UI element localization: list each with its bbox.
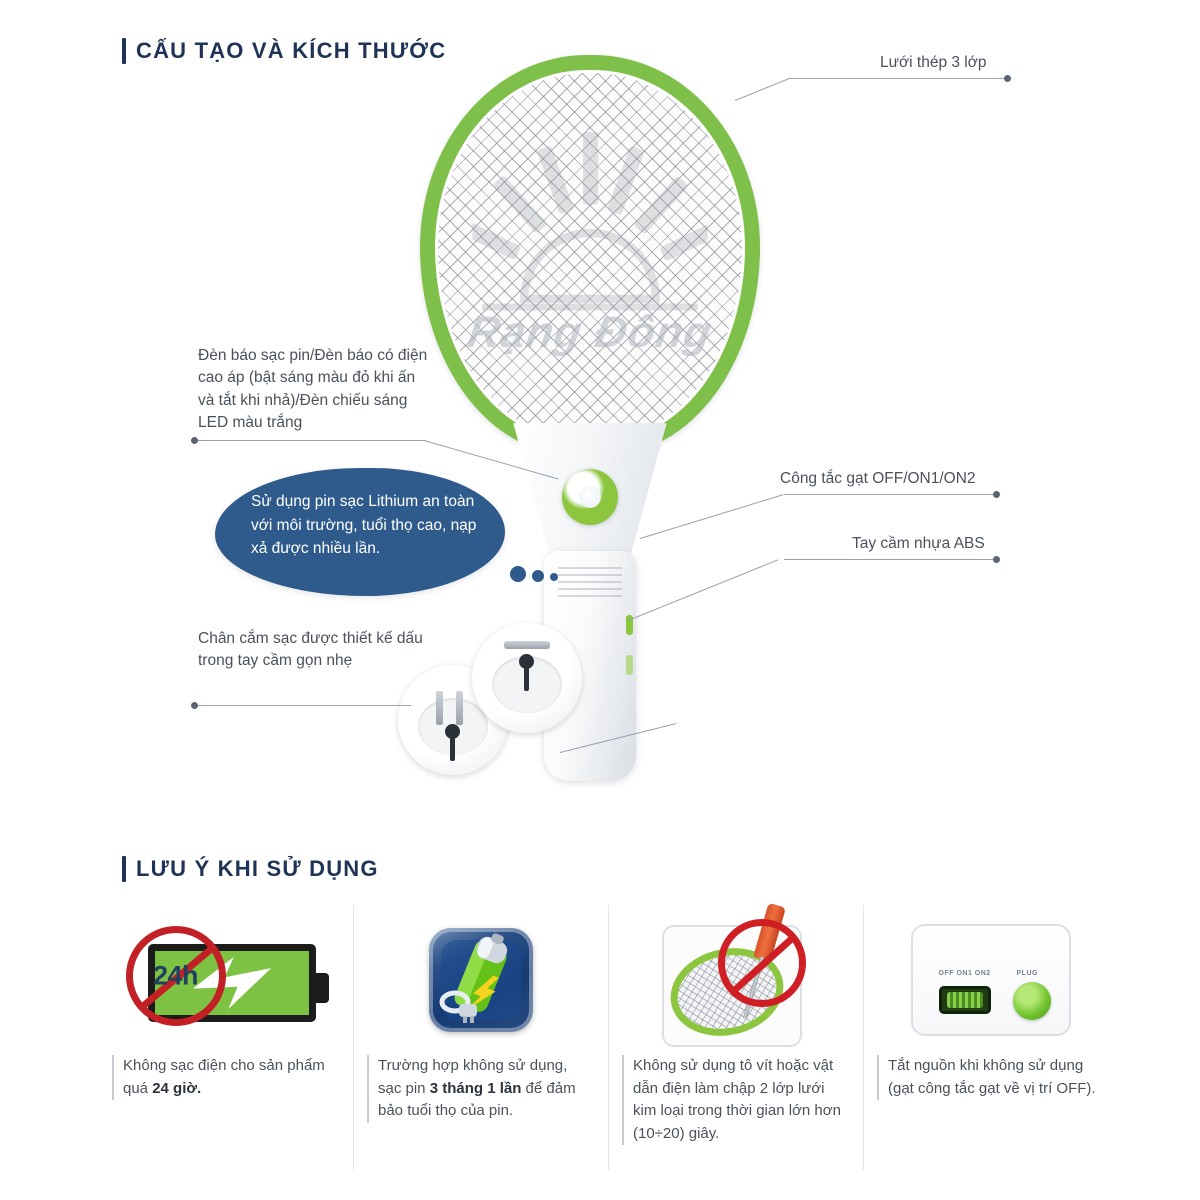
caption-accent-bar (622, 1055, 624, 1145)
slide-switch-control[interactable] (939, 986, 991, 1014)
note-item-1: 24h Không sạc điện cho sản phẩm quá 24 g… (98, 905, 353, 1170)
plug-pin-fold-tab (524, 661, 529, 691)
product-illustration: Rạng Đông (380, 55, 800, 795)
usage-notes-row: 24h Không sạc điện cho sản phẩm quá 24 g… (98, 905, 1118, 1170)
callout-switch-label: Công tắc gạt OFF/ON1/ON2 (780, 468, 1040, 490)
switch-panel-icon: OFF ON1 ON2 PLUG (911, 924, 1071, 1036)
note-caption-3: Không sử dụng tô vít hoặc vật dẫn điện l… (622, 1055, 849, 1145)
note-icon-slot (367, 905, 594, 1055)
callout-plug-leader (196, 705, 411, 706)
bubble-text: Sử dụng pin sạc Lithium an toàn với môi … (251, 490, 479, 561)
callout-plug-dot (191, 702, 198, 709)
bubble-tail-small (550, 573, 558, 581)
caption-accent-bar (367, 1055, 369, 1123)
callout-indicator-dot (191, 437, 198, 444)
caption-accent-bar (877, 1055, 879, 1100)
prohibition-slash (729, 935, 795, 995)
bubble-tail-large (510, 566, 526, 582)
callout-mesh-dot (1004, 75, 1011, 82)
plug-pin-folded (504, 641, 550, 649)
heading-accent-bar (122, 38, 126, 64)
heading-accent-bar (122, 856, 126, 882)
plug-pin-fold-tab (450, 731, 455, 761)
charging-plug-base-right (472, 623, 582, 733)
prohibition-circle-icon: 24h (126, 926, 226, 1026)
caption-emphasis: 24 giờ. (152, 1080, 201, 1097)
lithium-battery-callout-bubble: Sử dụng pin sạc Lithium an toàn với môi … (215, 468, 505, 596)
battery-no-24h-icon: 24h (126, 926, 326, 1034)
prohibition-circle-icon (718, 919, 806, 1007)
note-item-2: Trường hợp không sử dụng, sạc pin 3 thán… (353, 905, 608, 1170)
callout-plug-label: Chân cắm sạc được thiết kế dấu trong tay… (198, 628, 443, 673)
handle-spec-print (558, 567, 622, 601)
callout-handle-leader (784, 559, 996, 560)
caption-accent-bar (112, 1055, 114, 1100)
brand-watermark: Rạng Đông (464, 308, 716, 358)
callout-mesh-leader (790, 78, 1008, 79)
note-icon-slot: 24h (112, 905, 339, 1055)
note-icon-slot: OFF ON1 ON2 PLUG (877, 905, 1104, 1055)
caption-emphasis: 3 tháng 1 lần (430, 1080, 522, 1097)
caption-text: Không sử dụng tô vít hoặc vật dẫn điện l… (633, 1057, 841, 1142)
plug-indicator-light (1013, 982, 1051, 1020)
switch-plug-label: PLUG (1017, 970, 1038, 977)
note-item-3: Không sử dụng tô vít hoặc vật dẫn điện l… (608, 905, 863, 1170)
racket-screwdriver-prohibited-icon (648, 905, 823, 1055)
callout-indicator-leader (196, 440, 426, 441)
callout-mesh-label: Lưới thép 3 lớp (880, 52, 1130, 74)
plug-pin-1 (436, 691, 443, 725)
callout-indicator-label: Đèn báo sạc pin/Đèn báo có điện cao áp (… (198, 345, 433, 435)
note-caption-1: Không sạc điện cho sản phẩm quá 24 giờ. (112, 1055, 339, 1100)
usage-title: LƯU Ý KHI SỬ DỤNG (136, 856, 379, 882)
note-caption-2: Trường hợp không sử dụng, sạc pin 3 thán… (367, 1055, 594, 1123)
callout-switch-dot (993, 491, 1000, 498)
note-item-4: OFF ON1 ON2 PLUG Tắt nguồn khi không sử … (863, 905, 1118, 1170)
caption-text: Tắt nguồn khi không sử dụng (gạt công tắ… (888, 1057, 1096, 1097)
note-caption-4: Tắt nguồn khi không sử dụng (gạt công tắ… (877, 1055, 1104, 1100)
power-indicator-button[interactable] (562, 469, 618, 525)
callout-switch-leader (784, 494, 996, 495)
note-icon-slot (622, 905, 849, 1055)
plug-pin-2 (456, 691, 463, 725)
section-heading-usage: LƯU Ý KHI SỬ DỤNG (122, 856, 379, 882)
racket-mesh-head: Rạng Đông (420, 55, 760, 455)
badge-24h: 24h (153, 961, 198, 992)
callout-handle-label: Tay cầm nhựa ABS (852, 533, 1102, 555)
callout-handle-dot (993, 556, 1000, 563)
battery-plug-glyph (429, 928, 533, 1032)
slide-switch-indicator-secondary[interactable] (626, 655, 633, 675)
battery-app-tile-icon (429, 928, 533, 1032)
bubble-tail-medium (532, 570, 544, 582)
switch-modes-label: OFF ON1 ON2 (939, 970, 991, 977)
